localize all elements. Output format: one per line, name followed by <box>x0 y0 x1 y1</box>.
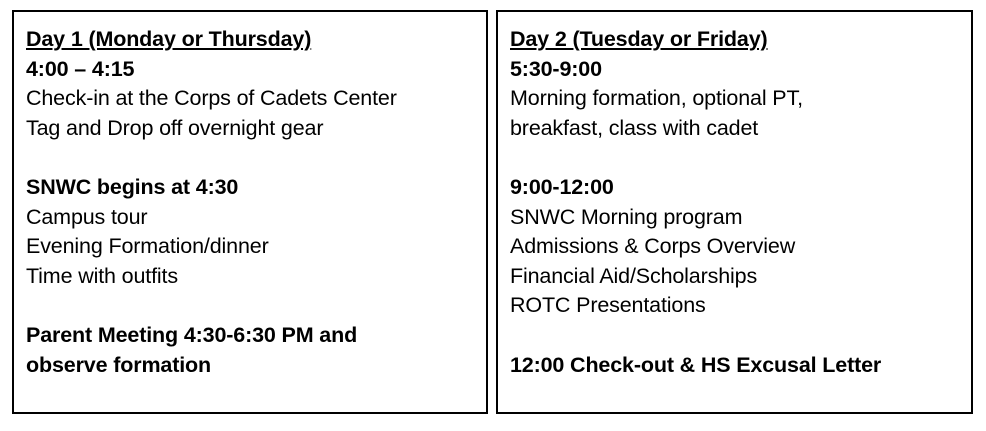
day-2-panel: Day 2 (Tuesday or Friday)5:30-9:00Mornin… <box>496 10 973 414</box>
schedule-time-line: 4:00 – 4:15 <box>26 55 476 85</box>
schedule-detail-line: Financial Aid/Scholarships <box>510 262 961 292</box>
day-1-content: Day 1 (Monday or Thursday)4:00 – 4:15Che… <box>14 12 486 380</box>
schedule-detail-line: Evening Formation/dinner <box>26 232 476 262</box>
blank-line <box>26 291 476 321</box>
schedule-detail-line: Campus tour <box>26 203 476 233</box>
schedule-detail-line: SNWC Morning program <box>510 203 961 233</box>
schedule-canvas: Day 1 (Monday or Thursday)4:00 – 4:15Che… <box>0 0 986 431</box>
schedule-time-line: observe formation <box>26 351 476 381</box>
schedule-detail-line: Time with outfits <box>26 262 476 292</box>
blank-line <box>26 143 476 173</box>
schedule-heading: Day 1 (Monday or Thursday) <box>26 25 476 55</box>
schedule-time-line: 9:00-12:00 <box>510 173 961 203</box>
schedule-detail-line: Admissions & Corps Overview <box>510 232 961 262</box>
schedule-detail-line: Check-in at the Corps of Cadets Center <box>26 84 476 114</box>
schedule-detail-line: Morning formation, optional PT, <box>510 84 961 114</box>
schedule-time-line: 5:30-9:00 <box>510 55 961 85</box>
schedule-heading: Day 2 (Tuesday or Friday) <box>510 25 961 55</box>
schedule-detail-line: ROTC Presentations <box>510 291 961 321</box>
blank-line <box>510 143 961 173</box>
schedule-detail-line: Tag and Drop off overnight gear <box>26 114 476 144</box>
schedule-detail-line: breakfast, class with cadet <box>510 114 961 144</box>
schedule-time-line: 12:00 Check-out & HS Excusal Letter <box>510 351 961 381</box>
blank-line <box>510 321 961 351</box>
schedule-time-line: SNWC begins at 4:30 <box>26 173 476 203</box>
schedule-time-line: Parent Meeting 4:30-6:30 PM and <box>26 321 476 351</box>
day-2-content: Day 2 (Tuesday or Friday)5:30-9:00Mornin… <box>498 12 971 380</box>
day-1-panel: Day 1 (Monday or Thursday)4:00 – 4:15Che… <box>12 10 488 414</box>
